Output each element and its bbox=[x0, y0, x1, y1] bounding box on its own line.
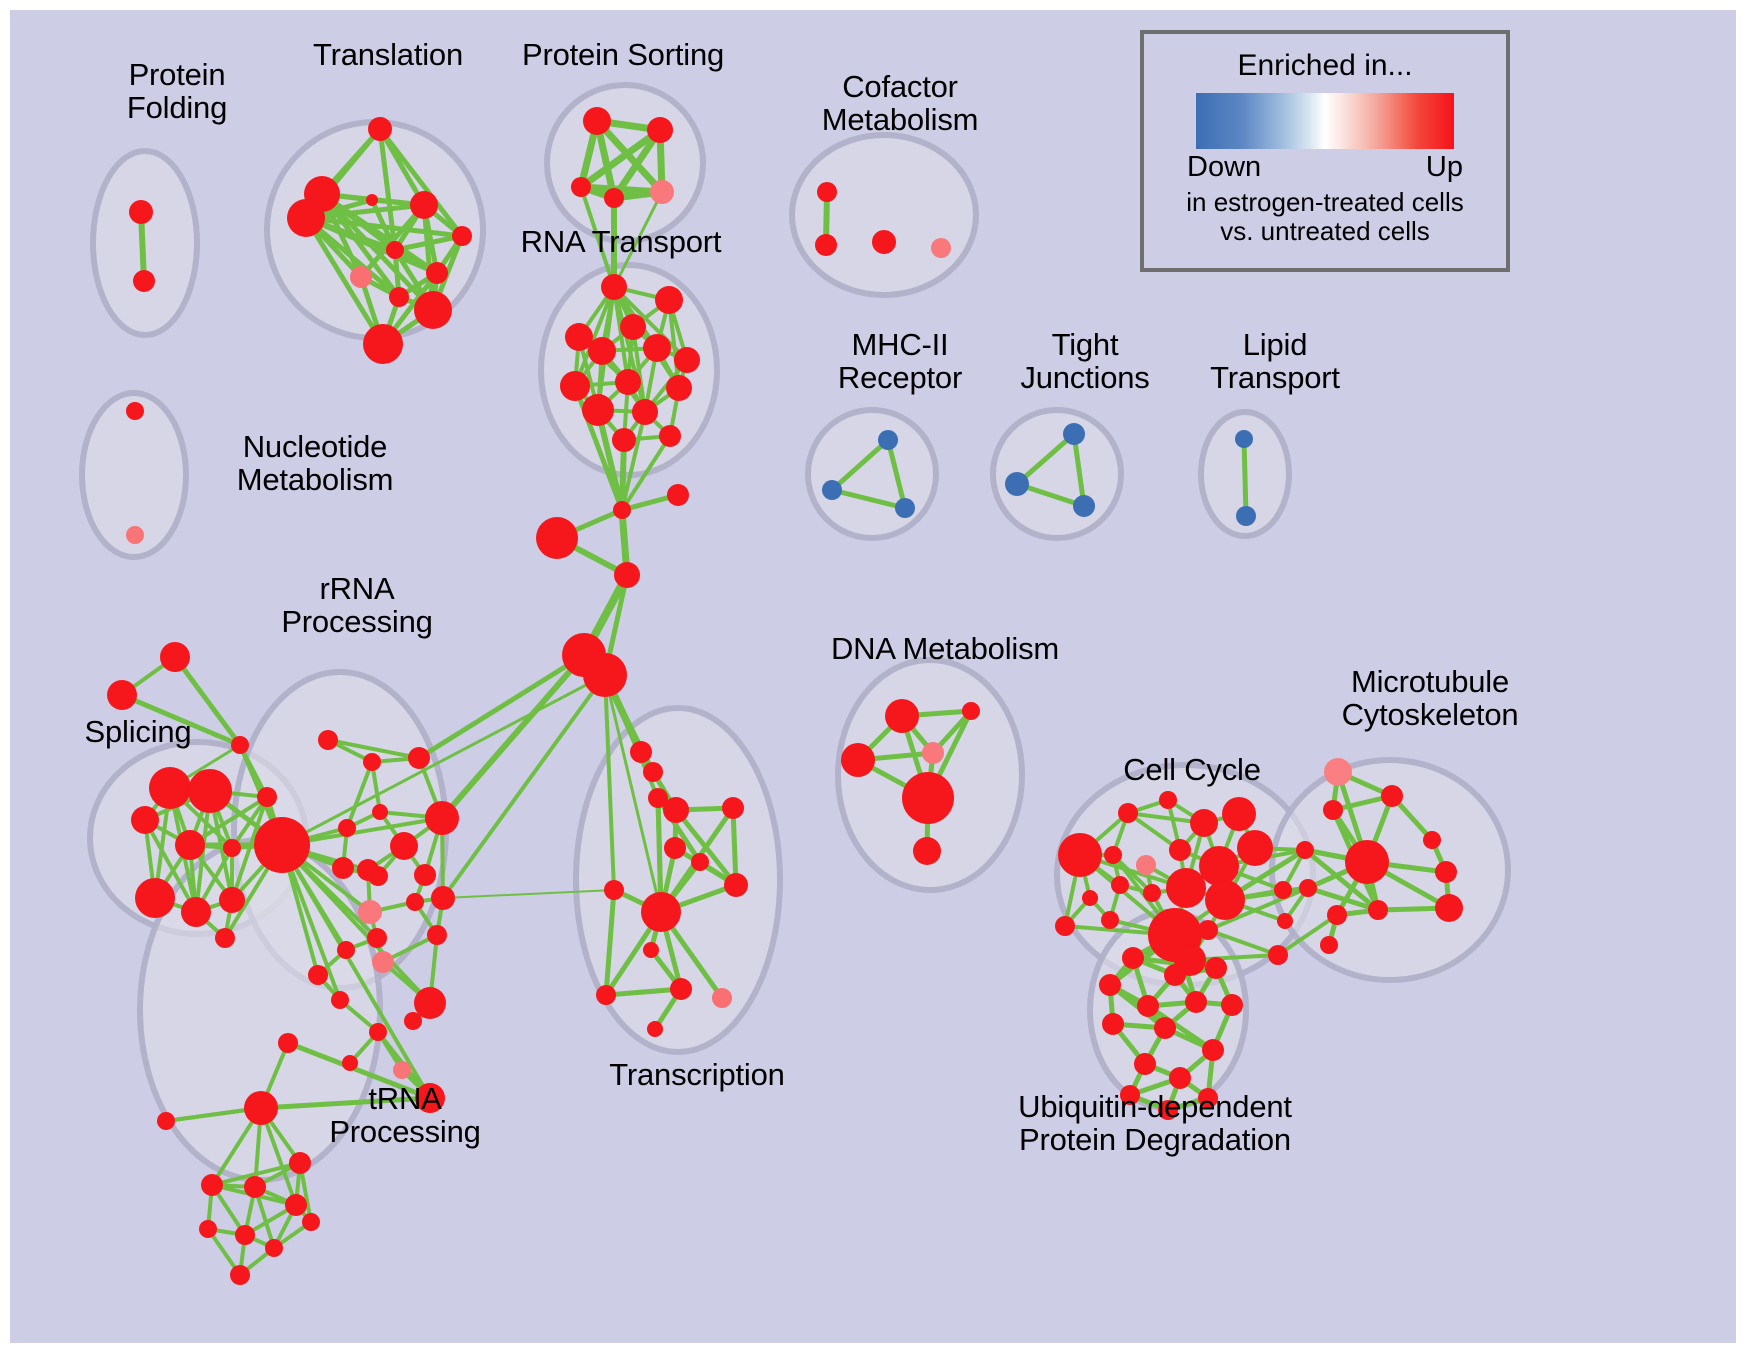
network-node[interactable] bbox=[1222, 797, 1256, 831]
network-node[interactable] bbox=[1274, 881, 1292, 899]
network-node[interactable] bbox=[1104, 846, 1122, 864]
network-node[interactable] bbox=[1323, 800, 1343, 820]
network-node[interactable] bbox=[199, 1220, 217, 1238]
network-node[interactable] bbox=[181, 897, 211, 927]
network-node[interactable] bbox=[289, 1152, 311, 1174]
legend-title: Enriched in... bbox=[1144, 49, 1506, 83]
network-node[interactable] bbox=[331, 991, 349, 1009]
network-node[interactable] bbox=[1221, 994, 1243, 1016]
network-node[interactable] bbox=[1299, 879, 1317, 897]
network-node[interactable] bbox=[722, 797, 744, 819]
network-node[interactable] bbox=[841, 743, 875, 777]
network-node[interactable] bbox=[1082, 890, 1098, 906]
network-node[interactable] bbox=[630, 741, 652, 763]
network-node[interactable] bbox=[1101, 911, 1119, 929]
network-node[interactable] bbox=[670, 978, 692, 1000]
network-node[interactable] bbox=[1166, 868, 1206, 908]
network-node[interactable] bbox=[632, 399, 658, 425]
network-node[interactable] bbox=[337, 941, 355, 959]
cluster-label-cell-cycle: Cell Cycle bbox=[1092, 753, 1292, 786]
network-node[interactable] bbox=[1237, 830, 1273, 866]
network-node[interactable] bbox=[1320, 936, 1338, 954]
network-node[interactable] bbox=[612, 428, 636, 452]
network-node[interactable] bbox=[1058, 833, 1102, 877]
network-node[interactable] bbox=[157, 1112, 175, 1130]
network-node[interactable] bbox=[583, 107, 611, 135]
network-node[interactable] bbox=[1236, 506, 1256, 526]
network-node[interactable] bbox=[278, 1033, 298, 1053]
network-node[interactable] bbox=[410, 191, 438, 219]
network-node[interactable] bbox=[1327, 905, 1347, 925]
network-node[interactable] bbox=[223, 839, 241, 857]
network-node[interactable] bbox=[878, 430, 898, 450]
network-node[interactable] bbox=[931, 238, 951, 258]
network-node[interactable] bbox=[126, 526, 144, 544]
network-node[interactable] bbox=[386, 241, 404, 259]
network-node[interactable] bbox=[254, 817, 310, 873]
network-node[interactable] bbox=[287, 199, 325, 237]
network-node[interactable] bbox=[583, 653, 627, 697]
network-node[interactable] bbox=[257, 787, 277, 807]
network-node[interactable] bbox=[895, 498, 915, 518]
network-node[interactable] bbox=[372, 804, 388, 820]
cluster-hull-mhc-ii-receptor bbox=[808, 410, 936, 538]
network-node[interactable] bbox=[691, 853, 709, 871]
network-node[interactable] bbox=[135, 878, 175, 918]
network-node[interactable] bbox=[230, 1265, 250, 1285]
legend-caption-line2: vs. untreated cells bbox=[1144, 217, 1506, 246]
network-node[interactable] bbox=[414, 864, 436, 886]
network-node[interactable] bbox=[643, 762, 663, 782]
cluster-label-rna-transport: RNA Transport bbox=[496, 225, 746, 258]
network-node[interactable] bbox=[149, 767, 191, 809]
network-node[interactable] bbox=[1063, 423, 1085, 445]
network-node[interactable] bbox=[1005, 472, 1029, 496]
network-node[interactable] bbox=[1143, 884, 1161, 902]
network-node[interactable] bbox=[1122, 947, 1144, 969]
cluster-label-protein-sorting: Protein Sorting bbox=[492, 38, 754, 71]
network-node[interactable] bbox=[389, 287, 409, 307]
network-node[interactable] bbox=[641, 892, 681, 932]
network-node[interactable] bbox=[571, 177, 591, 197]
cluster-label-trna-processing: tRNA Processing bbox=[300, 1082, 510, 1149]
network-node[interactable] bbox=[318, 730, 338, 750]
network-node[interactable] bbox=[1296, 841, 1314, 859]
cluster-label-mhc-ii-receptor: MHC-II Receptor bbox=[800, 328, 1000, 395]
network-node[interactable] bbox=[655, 286, 683, 314]
network-node[interactable] bbox=[643, 942, 659, 958]
network-node[interactable] bbox=[1235, 430, 1253, 448]
network-node[interactable] bbox=[659, 425, 681, 447]
network-node[interactable] bbox=[265, 1239, 283, 1257]
network-node[interactable] bbox=[426, 262, 448, 284]
network-node[interactable] bbox=[922, 742, 944, 764]
network-node[interactable] bbox=[913, 837, 941, 865]
network-node[interactable] bbox=[817, 182, 837, 202]
network-node[interactable] bbox=[338, 819, 356, 837]
network-node[interactable] bbox=[369, 1023, 387, 1041]
network-node[interactable] bbox=[1169, 1067, 1191, 1089]
network-node[interactable] bbox=[126, 402, 144, 420]
network-node[interactable] bbox=[131, 806, 159, 834]
network-node[interactable] bbox=[1368, 900, 1388, 920]
network-node[interactable] bbox=[1102, 1013, 1124, 1035]
network-node[interactable] bbox=[613, 501, 631, 519]
network-node[interactable] bbox=[1345, 840, 1389, 884]
network-node[interactable] bbox=[1423, 831, 1441, 849]
cluster-hull-cofactor-metabolism bbox=[792, 135, 976, 295]
network-node[interactable] bbox=[368, 117, 392, 141]
network-node[interactable] bbox=[560, 371, 590, 401]
cluster-label-tight-junctions: Tight Junctions bbox=[985, 328, 1185, 395]
cluster-label-rrna-processing: rRNA Processing bbox=[252, 572, 462, 639]
network-node[interactable] bbox=[664, 837, 686, 859]
network-node[interactable] bbox=[390, 832, 418, 860]
network-node[interactable] bbox=[962, 702, 980, 720]
network-node[interactable] bbox=[615, 369, 641, 395]
network-node[interactable] bbox=[604, 188, 624, 208]
network-node[interactable] bbox=[133, 270, 155, 292]
cluster-hull-protein-sorting bbox=[547, 85, 703, 241]
network-node[interactable] bbox=[350, 266, 372, 288]
network-node[interactable] bbox=[1137, 995, 1159, 1017]
network-node[interactable] bbox=[604, 880, 624, 900]
network-node[interactable] bbox=[408, 747, 430, 769]
network-node[interactable] bbox=[1268, 945, 1288, 965]
network-node[interactable] bbox=[231, 736, 249, 754]
network-node[interactable] bbox=[667, 484, 689, 506]
network-node[interactable] bbox=[363, 324, 403, 364]
network-node[interactable] bbox=[425, 801, 459, 835]
network-node[interactable] bbox=[367, 928, 387, 948]
network-node[interactable] bbox=[393, 1061, 411, 1079]
network-node[interactable] bbox=[1159, 791, 1177, 809]
network-node[interactable] bbox=[342, 1055, 358, 1071]
network-node[interactable] bbox=[308, 965, 328, 985]
network-node[interactable] bbox=[406, 893, 424, 911]
cluster-label-transcription: Transcription bbox=[572, 1058, 822, 1091]
network-node[interactable] bbox=[244, 1176, 266, 1198]
legend-caption-line1: in estrogen-treated cells bbox=[1144, 188, 1506, 217]
network-node[interactable] bbox=[427, 925, 447, 945]
network-node[interactable] bbox=[1111, 876, 1129, 894]
network-node[interactable] bbox=[1099, 974, 1121, 996]
network-node[interactable] bbox=[1136, 855, 1156, 875]
network-node[interactable] bbox=[188, 769, 232, 813]
network-node[interactable] bbox=[815, 234, 837, 256]
network-node[interactable] bbox=[302, 1213, 320, 1231]
network-node[interactable] bbox=[1154, 1017, 1176, 1039]
network-node[interactable] bbox=[666, 375, 692, 401]
legend-gradient-bar bbox=[1196, 93, 1454, 149]
network-node[interactable] bbox=[1202, 1039, 1224, 1061]
edge bbox=[1244, 439, 1246, 516]
network-node[interactable] bbox=[1055, 916, 1075, 936]
cluster-label-protein-folding: Protein Folding bbox=[82, 58, 272, 125]
network-node[interactable] bbox=[620, 314, 646, 340]
network-node[interactable] bbox=[872, 230, 896, 254]
network-node[interactable] bbox=[1205, 880, 1245, 920]
network-node[interactable] bbox=[452, 226, 472, 246]
network-node[interactable] bbox=[1324, 758, 1352, 786]
cluster-label-lipid-transport: Lipid Transport bbox=[1175, 328, 1375, 395]
network-node[interactable] bbox=[902, 772, 954, 824]
network-node[interactable] bbox=[404, 1012, 422, 1030]
cluster-label-translation: Translation bbox=[258, 38, 518, 71]
cluster-label-cofactor-metabolism: Cofactor Metabolism bbox=[780, 70, 1020, 137]
network-node[interactable] bbox=[357, 859, 379, 881]
network-node[interactable] bbox=[1198, 920, 1218, 940]
network-node[interactable] bbox=[107, 680, 137, 710]
network-node[interactable] bbox=[414, 291, 452, 329]
network-node[interactable] bbox=[1199, 846, 1239, 886]
cluster-label-nucleotide-metabolism: Nucleotide Metabolism bbox=[190, 430, 440, 497]
network-node[interactable] bbox=[582, 394, 614, 426]
edge bbox=[419, 655, 584, 758]
network-node[interactable] bbox=[372, 951, 394, 973]
network-node[interactable] bbox=[1435, 861, 1457, 883]
figure-canvas: Protein FoldingTranslationProtein Sortin… bbox=[0, 0, 1750, 1360]
network-node[interactable] bbox=[648, 788, 668, 808]
network-node[interactable] bbox=[285, 1194, 307, 1216]
network-node[interactable] bbox=[647, 117, 673, 143]
network-node[interactable] bbox=[596, 985, 616, 1005]
network-node[interactable] bbox=[536, 517, 578, 559]
network-node[interactable] bbox=[235, 1225, 255, 1245]
cluster-label-dna-metabolism: DNA Metabolism bbox=[800, 632, 1090, 665]
network-node[interactable] bbox=[431, 886, 455, 910]
legend-down-label: Down bbox=[1187, 151, 1261, 184]
network-node[interactable] bbox=[1134, 1053, 1156, 1075]
network-node[interactable] bbox=[1164, 964, 1186, 986]
network-node[interactable] bbox=[358, 900, 382, 924]
network-node[interactable] bbox=[885, 699, 919, 733]
legend-box: Enriched in... Down Up in estrogen-treat… bbox=[1140, 30, 1510, 272]
network-node[interactable] bbox=[366, 194, 378, 206]
network-node[interactable] bbox=[1205, 957, 1227, 979]
network-node[interactable] bbox=[363, 753, 381, 771]
network-node[interactable] bbox=[724, 873, 748, 897]
network-node[interactable] bbox=[614, 562, 640, 588]
network-node[interactable] bbox=[1381, 785, 1403, 807]
legend-up-label: Up bbox=[1426, 151, 1463, 184]
network-node[interactable] bbox=[1435, 894, 1463, 922]
network-node[interactable] bbox=[643, 334, 671, 362]
network-node[interactable] bbox=[215, 928, 235, 948]
network-node[interactable] bbox=[129, 200, 153, 224]
network-node[interactable] bbox=[674, 347, 700, 373]
cluster-label-splicing: Splicing bbox=[58, 715, 218, 748]
network-node[interactable] bbox=[219, 887, 245, 913]
network-node[interactable] bbox=[601, 274, 627, 300]
network-node[interactable] bbox=[1185, 991, 1207, 1013]
network-node[interactable] bbox=[1169, 839, 1191, 861]
network-node[interactable] bbox=[1118, 803, 1138, 823]
network-node[interactable] bbox=[160, 642, 190, 672]
network-node[interactable] bbox=[1190, 809, 1218, 837]
network-node[interactable] bbox=[650, 180, 674, 204]
network-node[interactable] bbox=[1277, 913, 1293, 929]
cluster-label-microtubule-cytoskeleton: Microtubule Cytoskeleton bbox=[1300, 665, 1560, 732]
network-node[interactable] bbox=[822, 480, 842, 500]
cluster-label-ubiquitin-protein-degradation: Ubiquitin-dependent Protein Degradation bbox=[985, 1090, 1325, 1157]
network-node[interactable] bbox=[712, 988, 732, 1008]
network-node[interactable] bbox=[1073, 495, 1095, 517]
network-node[interactable] bbox=[244, 1091, 278, 1125]
network-node[interactable] bbox=[647, 1021, 663, 1037]
network-node[interactable] bbox=[201, 1174, 223, 1196]
network-node[interactable] bbox=[332, 857, 354, 879]
network-node[interactable] bbox=[588, 337, 616, 365]
network-node[interactable] bbox=[175, 830, 205, 860]
